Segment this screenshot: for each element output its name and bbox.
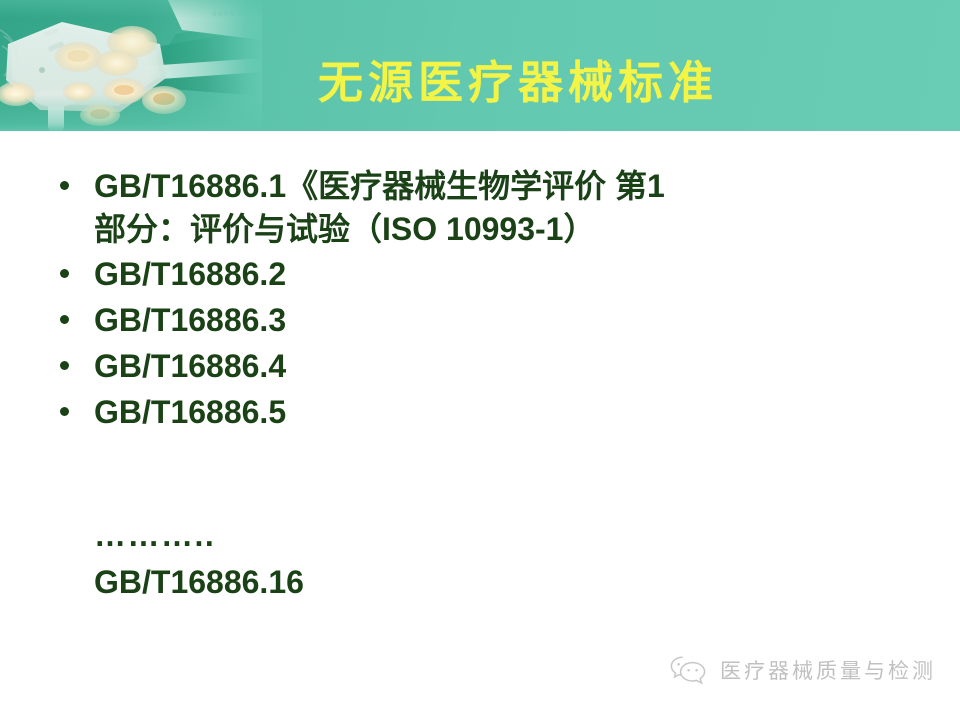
list-item-line-2: 部分：评价与试验（ISO 10993-1）	[94, 208, 926, 251]
list-item-line-1: GB/T16886.4	[94, 345, 926, 388]
bullet-dot-icon	[60, 181, 69, 190]
wechat-icon	[668, 653, 708, 687]
list-item-line-1: GB/T16886.5	[94, 391, 926, 434]
slide-body: GB/T16886.1《医疗器械生物学评价 第1 部分：评价与试验（ISO 10…	[0, 131, 960, 720]
list-item: GB/T16886.1《医疗器械生物学评价 第1 部分：评价与试验（ISO 10…	[46, 165, 926, 250]
footer-watermark: 医疗器械质量与检测	[668, 653, 936, 687]
list-item: GB/T16886.3	[46, 299, 926, 342]
bullet-dot-icon	[60, 407, 69, 416]
surgical-operating-lamp-photo: aeneura	[0, 0, 262, 131]
list-item: GB/T16886.4	[46, 345, 926, 388]
ellipsis-text: ………..	[94, 513, 304, 558]
bullet-dot-icon	[60, 315, 69, 324]
svg-text:aeneura: aeneura	[212, 9, 252, 18]
list-item-line-1: GB/T16886.2	[94, 253, 926, 296]
bullet-dot-icon	[60, 269, 69, 278]
continuation-block: ……….. GB/T16886.16	[94, 513, 304, 606]
watermark-label: 医疗器械质量与检测	[720, 655, 936, 685]
list-item-line-1: GB/T16886.1《医疗器械生物学评价 第1	[94, 165, 926, 208]
list-item-line-1: GB/T16886.3	[94, 299, 926, 342]
list-item: GB/T16886.5	[46, 391, 926, 434]
bullet-dot-icon	[60, 361, 69, 370]
slide-title: 无源医疗器械标准	[318, 60, 718, 105]
standards-bullet-list: GB/T16886.1《医疗器械生物学评价 第1 部分：评价与试验（ISO 10…	[46, 165, 926, 437]
last-standard-text: GB/T16886.16	[94, 560, 304, 605]
list-item: GB/T16886.2	[46, 253, 926, 296]
slide-header-banner: aeneura	[0, 0, 960, 131]
